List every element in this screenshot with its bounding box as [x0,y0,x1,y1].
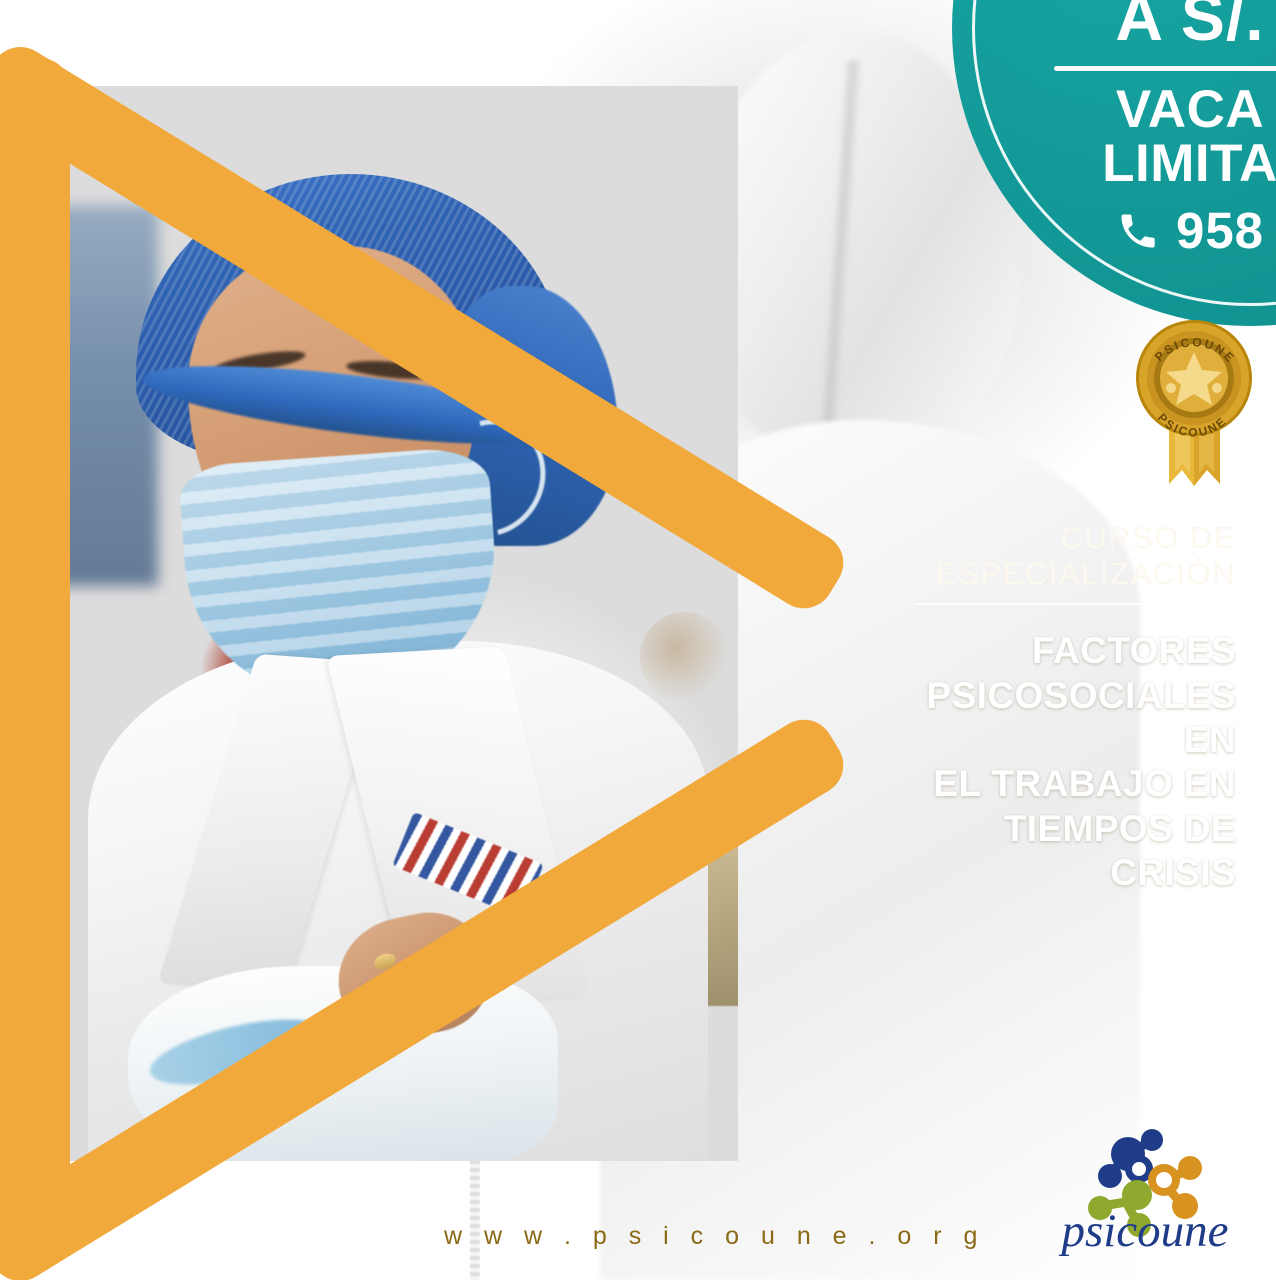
psicoune-logo: psicoune [1040,1122,1250,1262]
award-seal: PSICOUNE PSICOUNE [1119,306,1269,496]
course-title-line-1: FACTORES [870,629,1236,673]
kicker-line-2: ESPECIALIZACIÓN [870,556,1236,592]
kicker-line-1: CURSO DE [870,520,1236,556]
phone-icon [1116,209,1160,253]
course-copy: CURSO DE ESPECIALIZACIÓN FACTORES PSICOS… [870,520,1236,896]
course-title-line-3: EL TRABAJO EN [870,762,1236,806]
seats-line-2: LIMITA [1000,137,1276,191]
course-title-line-5: CRISIS [870,851,1236,895]
website-url[interactable]: w w w . p s i c o u n e . o r g [444,1222,985,1251]
course-title-line-4: TIEMPOS DE [870,807,1236,851]
phone-number: 958 [1176,201,1264,260]
price-label: A S/. [1000,0,1276,50]
logo-wordmark: psicoune [1058,1205,1228,1257]
kicker-divider [914,603,1236,605]
course-title-line-2: PSICOSOCIALES EN [870,674,1236,763]
phone-row[interactable]: 958 [1000,201,1276,260]
poster-canvas: A S/. VACA LIMITA 958 [0,0,1276,1280]
price-divider [1054,66,1276,71]
orange-frame-left [0,58,70,1226]
seats-line-1: VACA [1000,83,1276,137]
price-badge-content: A S/. VACA LIMITA 958 [1000,0,1276,260]
